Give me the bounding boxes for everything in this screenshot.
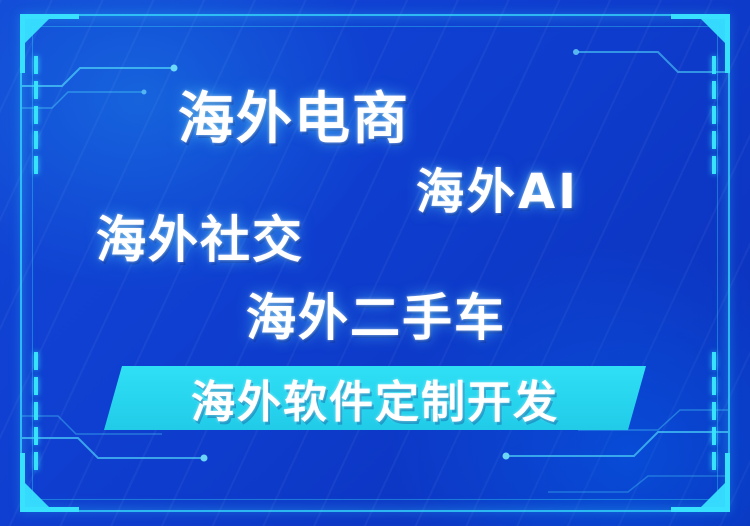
banner-label-software-development: 海外软件定制开发 (104, 366, 646, 430)
headline-overseas-used-car: 海外二手车 (246, 278, 506, 350)
headline-overseas-social: 海外社交 (96, 200, 304, 272)
promo-poster: 海外电商 海外AI 海外社交 海外二手车 海外软件定制开发 (0, 0, 750, 526)
headline-group: 海外电商 海外AI 海外社交 海外二手车 (0, 0, 750, 526)
headline-overseas-ai: 海外AI (416, 152, 579, 222)
headline-overseas-ecommerce: 海外电商 (178, 74, 410, 155)
